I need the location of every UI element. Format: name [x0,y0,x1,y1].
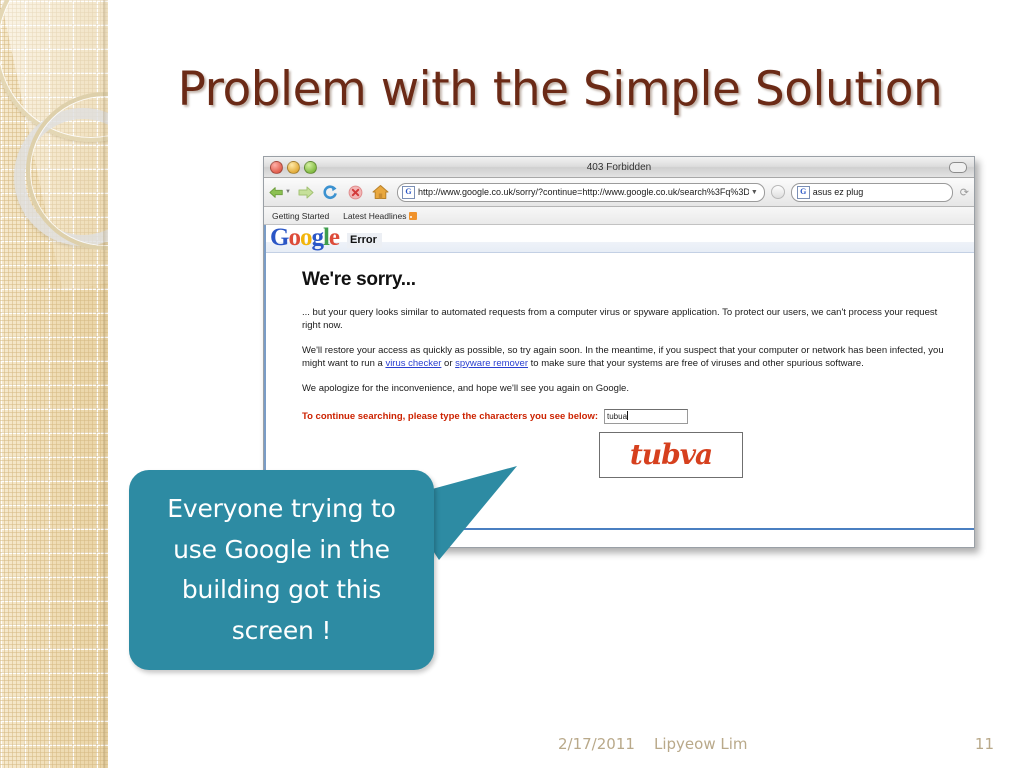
logo-letter-g: g [311,225,323,251]
rss-icon [409,212,417,220]
browser-titlebar: 403 Forbidden [264,157,974,178]
footer-author: Lipyeow Lim [654,735,748,753]
slide-canvas: Problem with the Simple Solution 403 For… [0,0,1024,768]
address-bar-input[interactable]: http://www.google.co.uk/sorry/?continue=… [418,187,749,197]
error-body: We're sorry... ... but your query looks … [266,253,974,478]
callout-body: Everyone trying to use Google in the bui… [129,470,434,670]
back-button[interactable]: ▼ [269,181,291,203]
google-logo[interactable]: Google [270,225,339,250]
google-error-header: Google Error [266,225,974,253]
error-badge: Error [347,233,382,248]
captcha-input-value: tubua [607,412,627,421]
text-cursor-icon [627,411,628,420]
logo-letter-e: e [329,225,339,251]
bookmarks-bar: Getting Started Latest Headlines [264,207,974,225]
stop-button[interactable] [344,181,366,203]
address-bar-dropdown-icon[interactable]: ▼ [749,189,760,196]
site-favicon-icon: G [402,186,415,199]
logo-letter-G: G [270,225,288,251]
home-button[interactable] [369,181,391,203]
paragraph-2-part-b: or [441,358,455,369]
search-spinner-icon: ⟳ [960,186,969,199]
spyware-remover-link[interactable]: spyware remover [455,358,528,369]
bookmark-label: Latest Headlines [343,211,406,221]
error-heading: We're sorry... [302,269,944,291]
paragraph-2-part-c: to make sure that your systems are free … [528,358,864,369]
error-paragraph-2: We'll restore your access as quickly as … [302,345,944,370]
slide-footer: 2/17/2011 Lipyeow Lim 11 [130,732,1024,756]
address-bar[interactable]: G http://www.google.co.uk/sorry/?continu… [397,183,765,202]
bookmark-latest-headlines[interactable]: Latest Headlines [343,211,416,221]
footer-date: 2/17/2011 [558,735,635,753]
search-input[interactable]: asus ez plug [813,187,864,197]
callout-bubble: Everyone trying to use Google in the bui… [129,470,434,670]
search-engine-icon[interactable]: G [797,186,810,199]
page-title: Problem with the Simple Solution [150,62,970,117]
go-button-icon[interactable] [771,185,785,199]
captcha-image: tubva [599,432,743,478]
forward-button[interactable] [294,181,316,203]
virus-checker-link[interactable]: virus checker [385,358,441,369]
bookmark-getting-started[interactable]: Getting Started [272,211,329,221]
captcha-label: To continue searching, please type the c… [302,411,598,422]
captcha-image-text: tubva [630,438,712,471]
decorative-sidebar-band [0,0,108,768]
logo-letter-o2: o [300,225,312,251]
toolbar-toggle-icon[interactable] [949,162,967,173]
logo-letter-o1: o [288,225,300,251]
error-paragraph-3: We apologize for the inconvenience, and … [302,383,944,396]
browser-toolbar: ▼ [264,178,974,207]
search-bar[interactable]: G asus ez plug [791,183,953,202]
error-paragraph-1: ... but your query looks similar to auto… [302,307,944,332]
window-title: 403 Forbidden [264,162,974,173]
callout-text: Everyone trying to use Google in the bui… [129,489,434,651]
bookmark-label: Getting Started [272,211,329,221]
footer-page-number: 11 [975,735,994,753]
captcha-input[interactable]: tubua [604,409,688,424]
reload-button[interactable] [319,181,341,203]
back-history-caret-icon[interactable]: ▼ [285,189,291,195]
captcha-prompt-row: To continue searching, please type the c… [302,409,944,424]
